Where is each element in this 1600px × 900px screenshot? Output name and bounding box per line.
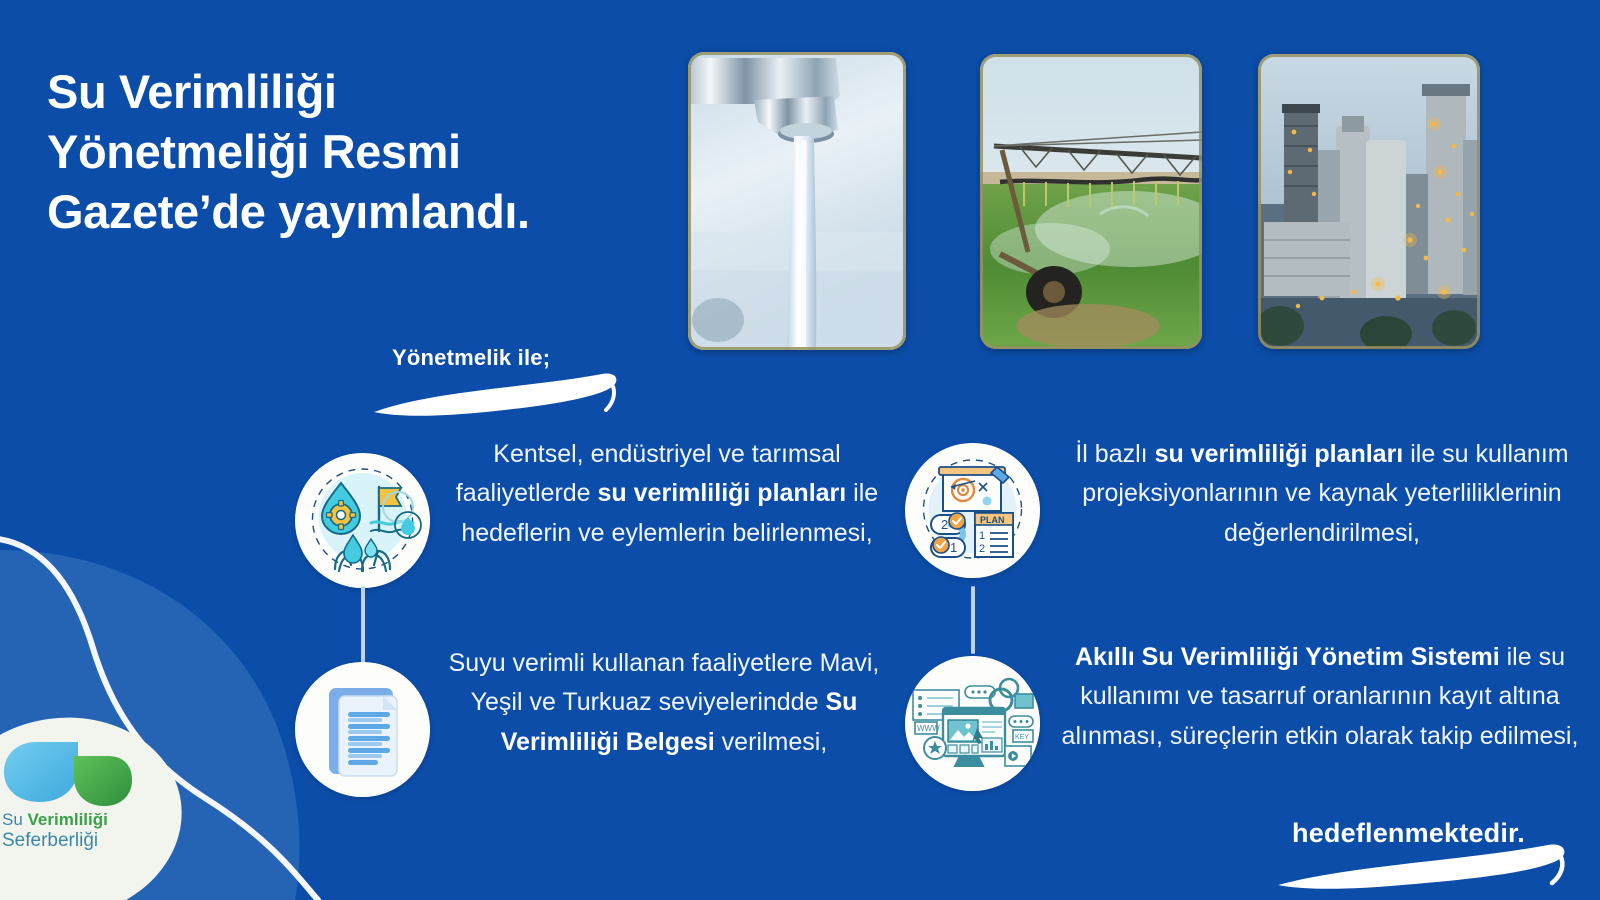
kicker-underline-swoosh	[366, 372, 634, 420]
page-title-line-3: Gazete’de yayımlandı.	[47, 182, 687, 242]
list-item-text: İl bazlı su verimliliği planları ile su …	[1062, 435, 1582, 553]
left-content-column: Kentsel, endüstriyel ve tarımsal faaliye…	[295, 435, 895, 797]
page-title: Su Verimliliği Yönetmeliği Resmi Gazete’…	[47, 62, 687, 242]
industrial-plant-photo	[1258, 54, 1480, 349]
logo-line-1-bold: Verimliliği	[28, 810, 108, 829]
icon-wrapper: 2 1 PLAN 1 2	[905, 443, 1040, 578]
list-item: WWW KEY Akıllı Su Verimliliği Yönetim Si…	[905, 638, 1595, 791]
svg-text:KEY: KEY	[1015, 734, 1029, 741]
brand-logo: Su Verimliliği Seferberliği	[0, 718, 182, 900]
logo-wordmark: Su Verimliliği Seferberliği	[2, 810, 162, 852]
icon-wrapper: WWW KEY	[905, 656, 1040, 791]
logo-line-1-light: Su	[2, 810, 28, 829]
right-content-column: 2 1 PLAN 1 2	[905, 435, 1595, 791]
list-item-text: Akıllı Su Verimliliği Yönetim Sistemi il…	[1054, 638, 1586, 756]
infographic-canvas: Su Verimliliği Yönetmeliği Resmi Gazete’…	[0, 0, 1600, 900]
list-item: 2 1 PLAN 1 2	[905, 435, 1595, 578]
list-item: Kentsel, endüstriyel ve tarımsal faaliye…	[295, 435, 895, 588]
smart-management-system-icon: WWW KEY	[905, 656, 1040, 791]
list-item: Suyu verimli kullanan faaliyetlere Mavi,…	[295, 644, 895, 797]
svg-text:2: 2	[941, 517, 948, 532]
certificate-document-icon	[295, 662, 430, 797]
closing-underline-swoosh	[1272, 843, 1582, 891]
logo-inner: Su Verimliliği Seferberliği	[0, 738, 170, 888]
water-efficiency-plan-icon	[295, 453, 430, 588]
logo-line-1: Su Verimliliği	[2, 810, 162, 830]
svg-text:1: 1	[950, 540, 957, 555]
page-title-line-2: Yönetmeliği Resmi	[47, 122, 687, 182]
kicker-label: Yönetmelik ile;	[392, 345, 550, 371]
page-title-line-1: Su Verimliliği	[47, 62, 687, 122]
plan-target-icon: 2 1 PLAN 1 2	[905, 443, 1040, 578]
icon-wrapper	[295, 662, 430, 797]
faucet-water-photo	[688, 52, 906, 350]
water-drop-logo-icon	[0, 738, 136, 810]
irrigation-field-photo	[980, 54, 1202, 349]
list-item-text: Suyu verimli kullanan faaliyetlere Mavi,…	[440, 644, 888, 762]
list-item-text: Kentsel, endüstriyel ve tarımsal faaliye…	[447, 435, 887, 553]
svg-text:WWW: WWW	[917, 724, 940, 733]
svg-text:1: 1	[979, 530, 985, 542]
icon-wrapper	[295, 453, 430, 588]
logo-line-2: Seferberliği	[2, 830, 162, 852]
svg-text:2: 2	[979, 543, 985, 555]
svg-text:PLAN: PLAN	[980, 515, 1005, 525]
